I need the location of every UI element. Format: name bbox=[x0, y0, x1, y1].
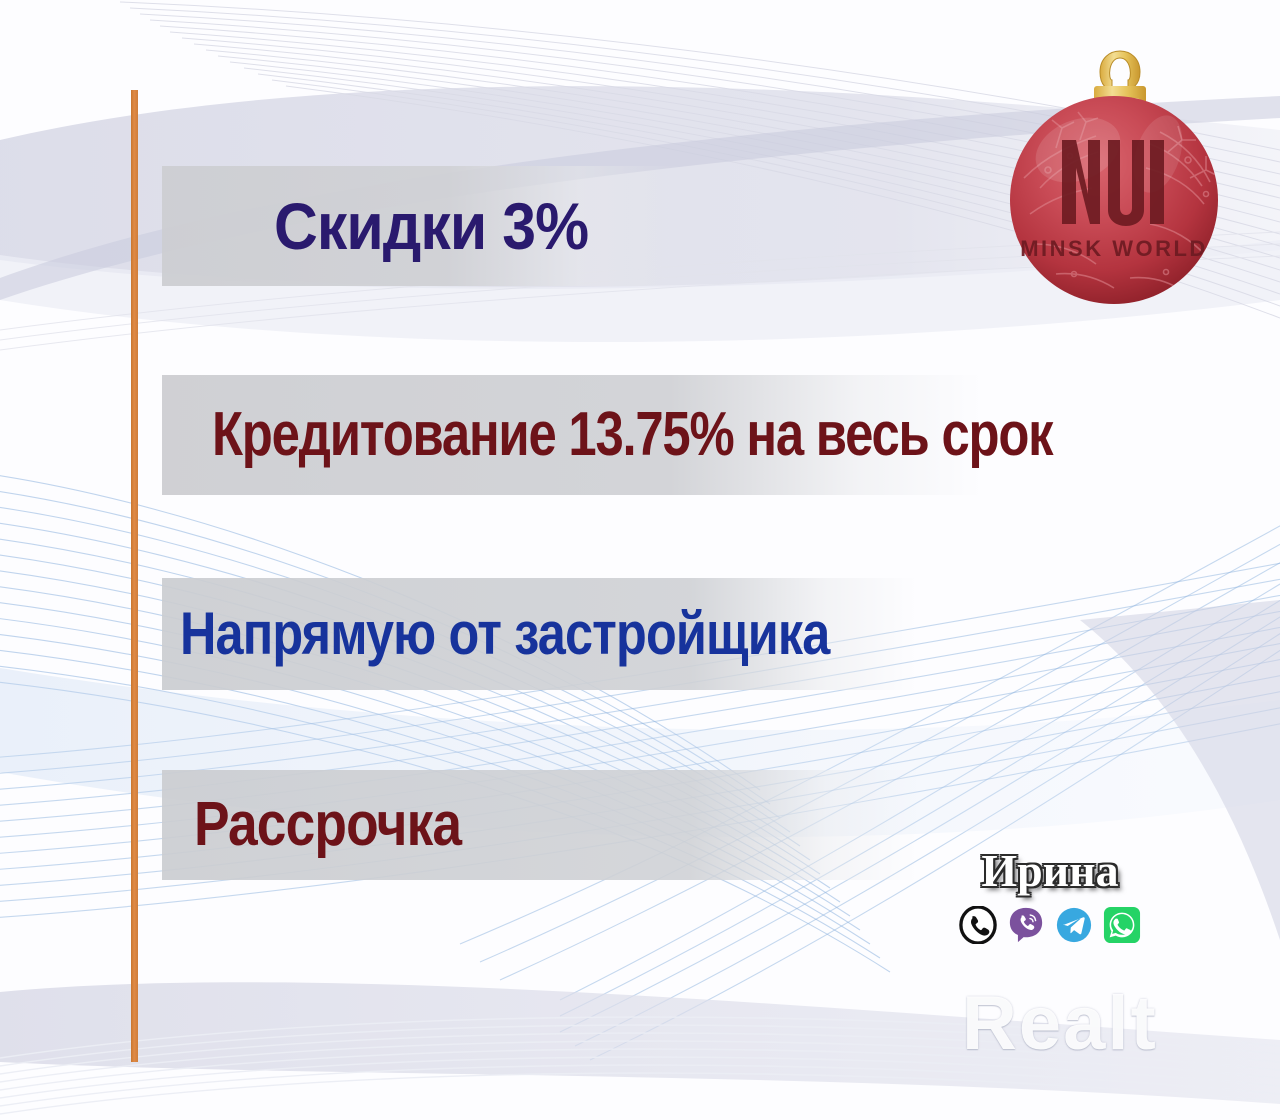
brand-name: MINSK WORLD bbox=[1020, 236, 1208, 261]
offer-text-credit: Кредитование 13.75% на весь срок bbox=[212, 404, 1052, 466]
offer-banner-credit: Кредитование 13.75% на весь срок bbox=[162, 375, 982, 495]
offer-text-installment: Рассрочка bbox=[194, 794, 461, 856]
offer-banner-developer: Напрямую от застройщика bbox=[162, 578, 917, 690]
offer-banner-discount: Скидки 3% bbox=[162, 166, 682, 286]
viber-icon[interactable] bbox=[1007, 906, 1045, 944]
christmas-ball-ornament: MINSK WORLD bbox=[1000, 28, 1228, 318]
slide-canvas: Скидки 3% Кредитование 13.75% на весь ср… bbox=[0, 0, 1280, 1120]
phone-icon[interactable] bbox=[959, 906, 997, 944]
contact-block: Ирина bbox=[950, 848, 1150, 944]
offer-text-discount: Скидки 3% bbox=[274, 193, 588, 259]
offer-text-developer: Напрямую от застройщика bbox=[180, 604, 829, 664]
offer-banner-installment: Рассрочка bbox=[162, 770, 917, 880]
realt-watermark: Realt bbox=[962, 986, 1158, 1062]
whatsapp-icon[interactable] bbox=[1103, 906, 1141, 944]
agent-name: Ирина bbox=[950, 848, 1150, 894]
contact-icons bbox=[950, 906, 1150, 944]
accent-vertical-rule bbox=[131, 90, 138, 1062]
telegram-icon[interactable] bbox=[1055, 906, 1093, 944]
